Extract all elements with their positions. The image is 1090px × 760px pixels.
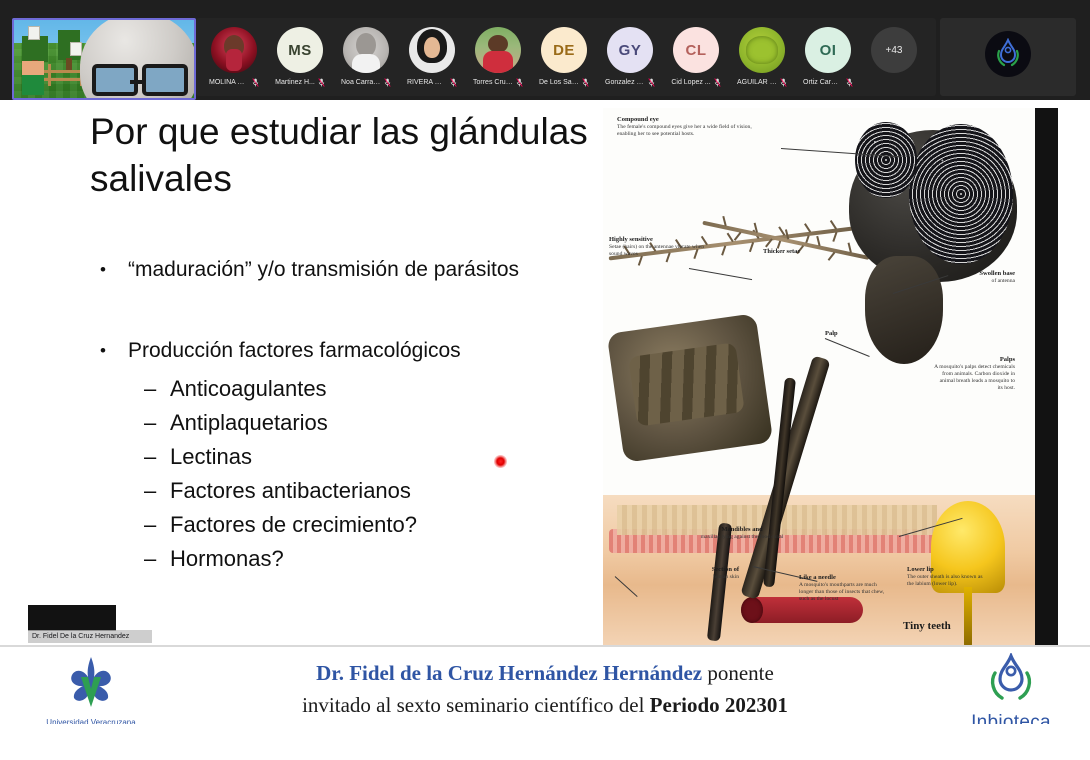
participant-tile[interactable]: MS Martinez H...: [272, 27, 328, 87]
participant-name: De Los Sant...: [539, 78, 579, 87]
banner-period: Periodo 202301: [650, 693, 788, 717]
participant-name: Gonzalez R...: [605, 78, 645, 87]
shared-screen-name-tag: Dr. Fidel De la Cruz Hernandez: [28, 630, 152, 643]
shared-window-edge: [28, 605, 116, 631]
mic-off-icon: [384, 78, 391, 87]
participant-tile[interactable]: AGUILAR C...: [734, 27, 790, 87]
mic-off-icon: [846, 78, 853, 87]
avatar: DE: [541, 27, 587, 73]
sub-bullet-item: Lectinas: [144, 440, 590, 474]
speaker-name: Dr. Fidel de la Cruz Hernández Hernández: [316, 661, 702, 685]
virtual-bg-character: [22, 61, 44, 95]
speaker-role: ponente: [702, 661, 774, 685]
mosquito-anatomy-figure: Compound eye The female's compound eyes …: [603, 108, 1058, 645]
participant-tile[interactable]: OI Ortiz Carmo...: [800, 27, 856, 87]
figure-label-thicker-setae: Thicker setae: [763, 248, 839, 256]
participant-name-row: Ortiz Carmo...: [800, 78, 856, 87]
banner-line2-prefix: invitado al: [302, 693, 396, 717]
participant-name: Noa Carraz...: [341, 78, 381, 87]
participant-name-row: MOLINA M...: [206, 78, 262, 87]
virtual-bg-fence-post: [48, 64, 51, 86]
uv-fleur-de-lis-icon: [61, 655, 121, 711]
sub-bullet-item: Hormonas?: [144, 542, 590, 576]
bullet-item: Producción factores farmacológicos: [90, 336, 590, 365]
participant-name: Torres Cruz ...: [473, 78, 513, 87]
participant-name: Ortiz Carmo...: [803, 78, 843, 87]
mic-off-icon: [714, 78, 721, 87]
overflow-badge: +43: [871, 27, 917, 73]
sub-bullet-item: Anticoagulantes: [144, 372, 590, 406]
mic-off-icon: [252, 78, 259, 87]
leader-line: [689, 268, 752, 280]
mouthparts-inset: [607, 313, 774, 463]
mic-off-icon: [516, 78, 523, 87]
inbioteca-logo-icon: [985, 31, 1031, 77]
mic-off-icon: [450, 78, 457, 87]
participant-name: AGUILAR C...: [737, 78, 777, 87]
glasses-icon: [92, 70, 188, 96]
participant-name-row: Noa Carraz...: [338, 78, 394, 87]
avatar: CL: [673, 27, 719, 73]
participant-name-row: Cid Lopez ...: [668, 78, 724, 87]
avatar-initials: MS: [288, 42, 312, 59]
avatar: [409, 27, 455, 73]
participants-overflow-tile[interactable]: +43: [866, 27, 922, 73]
avatar-initials: GY: [619, 42, 642, 59]
banner-divider: [0, 645, 1090, 647]
meeting-top-bar: MOLINA M... MS Martinez H... Noa Carraz.…: [0, 0, 1090, 100]
banner-text-block: Dr. Fidel de la Cruz Hernández Hernández…: [190, 657, 900, 721]
slide-title: Por que estudiar las glándulas salivales: [90, 108, 590, 202]
participant-name-row: Gonzalez R...: [602, 78, 658, 87]
participant-name-row: AGUILAR C...: [734, 78, 790, 87]
figure-label-tiny-teeth: Tiny teeth: [903, 620, 993, 633]
mic-off-icon: [582, 78, 589, 87]
figure-label-swollen-base: Swollen base of antenna: [937, 270, 1015, 285]
virtual-bg-sign: [28, 26, 40, 40]
compound-eye-secondary: [855, 122, 917, 198]
participant-name: Cid Lopez ...: [671, 78, 710, 87]
sub-bullet-item: Antiplaquetarios: [144, 406, 590, 440]
figure-label-compound-eye: Compound eye The female's compound eyes …: [617, 116, 767, 138]
participant-tile[interactable]: CL Cid Lopez ...: [668, 27, 724, 87]
participant-name-row: De Los Sant...: [536, 78, 592, 87]
blood-vessel-opening: [741, 597, 763, 623]
mosquito-thorax: [865, 256, 943, 364]
avatar: [211, 27, 257, 73]
inbioteca-flame-icon: [985, 653, 1037, 709]
slide-bullet-list: “maduración” y/o transmisión de parásito…: [90, 255, 590, 576]
bullet-item: “maduración” y/o transmisión de parásito…: [90, 255, 590, 284]
mic-off-icon: [780, 78, 787, 87]
avatar-initials: CL: [686, 42, 707, 59]
avatar: GY: [607, 27, 653, 73]
participant-tile[interactable]: MOLINA M...: [206, 27, 262, 87]
slide-sub-bullet-list: Anticoagulantes Antiplaquetarios Lectina…: [90, 372, 590, 576]
slide-text-column: Por que estudiar las glándulas salivales…: [28, 100, 603, 645]
figure-label-section-of-skin: Section of human skin: [669, 566, 739, 581]
participant-tile[interactable]: Torres Cruz ...: [470, 27, 526, 87]
figure-label-palp: Palp: [825, 330, 865, 338]
virtual-bg-trunk: [66, 58, 72, 70]
avatar: [343, 27, 389, 73]
participant-name: RIVERA OLI...: [407, 78, 447, 87]
participant-name-row: Martinez H...: [272, 78, 328, 87]
figure-dark-edge: [1035, 108, 1058, 645]
shared-slide[interactable]: Por que estudiar las glándulas salivales…: [28, 100, 1062, 645]
avatar: [739, 27, 785, 73]
avatar: OI: [805, 27, 851, 73]
banner-line-1: Dr. Fidel de la Cruz Hernández Hernández…: [190, 657, 900, 689]
sub-bullet-item: Factores antibacterianos: [144, 474, 590, 508]
mic-off-icon: [648, 78, 655, 87]
inbioteca-logo: Inbioteca: [946, 653, 1076, 734]
participant-name-row: RIVERA OLI...: [404, 78, 460, 87]
banner-line2-mid: sexto seminario científico del: [397, 693, 650, 717]
participant-filmstrip[interactable]: MOLINA M... MS Martinez H... Noa Carraz.…: [196, 18, 936, 96]
participant-name: MOLINA M...: [209, 78, 249, 87]
figure-label-like-a-needle: Like a needle A mosquito's mouthparts ar…: [799, 574, 889, 603]
avatar: [475, 27, 521, 73]
zoom-meeting-screen-share: MOLINA M... MS Martinez H... Noa Carraz.…: [0, 0, 1090, 760]
figure-label-mandibles: Mandibles and maxillae lying against the…: [699, 526, 785, 541]
figure-label-palps: Palps A mosquito's palps detect chemical…: [933, 356, 1015, 392]
self-view-tile[interactable]: [12, 18, 196, 100]
avatar: MS: [277, 27, 323, 73]
participant-tile[interactable]: Noa Carraz...: [338, 27, 394, 87]
figure-label-lower-lip: Lower lip The outer sheath is also known…: [907, 566, 987, 588]
participant-tile[interactable]: GY Gonzalez R...: [602, 27, 658, 87]
mic-off-icon: [318, 78, 325, 87]
participant-tile[interactable]: DE De Los Sant...: [536, 27, 592, 87]
leader-line: [825, 338, 870, 357]
participant-name-row: Torres Cruz ...: [470, 78, 526, 87]
avatar-initials: DE: [553, 42, 575, 59]
participant-tile[interactable]: RIVERA OLI...: [404, 27, 460, 87]
figure-label-highly-sensitive: Highly sensitive Setae (hairs) on the an…: [609, 236, 709, 258]
compound-eye: [909, 124, 1013, 264]
banner-line-2: invitado al sexto seminario científico d…: [190, 689, 900, 721]
participant-name: Martinez H...: [275, 78, 315, 87]
universidad-veracruzana-logo: Universidad Veracruzana: [26, 655, 156, 727]
meeting-side-pane: [940, 18, 1076, 96]
sub-bullet-item: Factores de crecimiento?: [144, 508, 590, 542]
virtual-bg-sign: [70, 42, 82, 56]
avatar-initials: OI: [820, 42, 837, 59]
page-bottom-fill: [0, 724, 1090, 760]
figure-canvas: Compound eye The female's compound eyes …: [603, 108, 1035, 645]
laser-pointer-dot: [494, 455, 507, 468]
